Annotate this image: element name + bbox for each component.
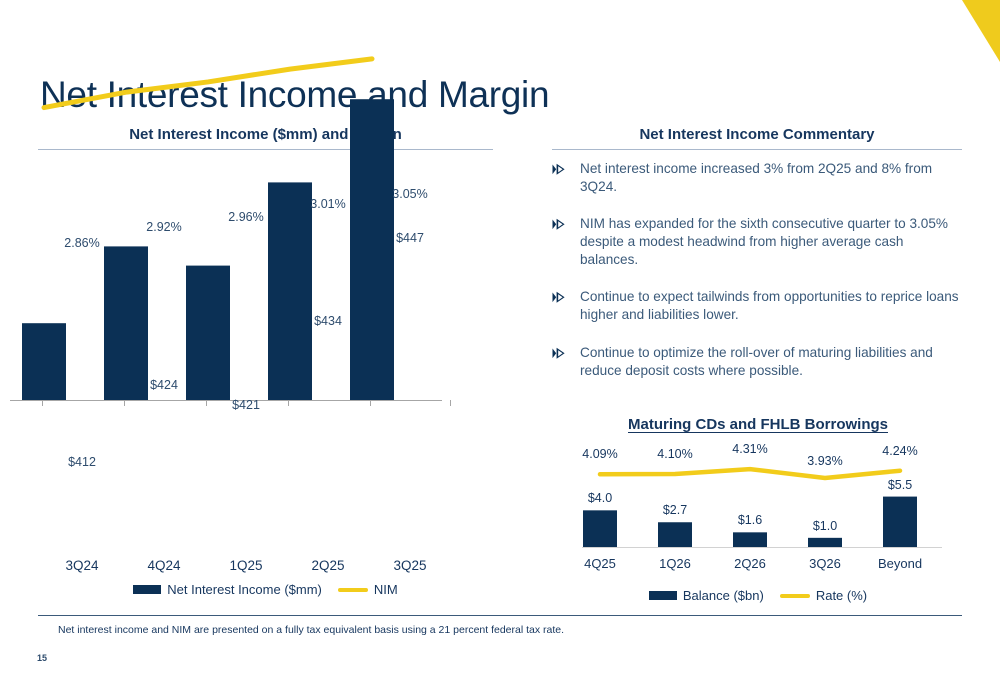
category-label: 2Q25 bbox=[293, 558, 363, 573]
axis-tick bbox=[450, 400, 451, 406]
right-panel-title: Net Interest Income Commentary bbox=[552, 126, 962, 149]
bullet-icon bbox=[552, 160, 568, 196]
footnote-text: Net interest income and NIM are presente… bbox=[58, 624, 564, 636]
nim-value-label: 3.05% bbox=[375, 187, 445, 201]
chart1-legend-item-line: NIM bbox=[338, 582, 398, 597]
category-label: 4Q25 bbox=[565, 556, 635, 571]
axis-tick bbox=[42, 400, 43, 406]
right-panel-divider bbox=[552, 149, 962, 150]
bar-value-label: $4.0 bbox=[565, 491, 635, 505]
right-panel-header-group: Net Interest Income Commentary bbox=[552, 126, 962, 150]
bar-value-label: $1.0 bbox=[790, 519, 860, 533]
chart2-legend: Balance ($bn) Rate (%) bbox=[552, 588, 964, 603]
corner-accent-triangle bbox=[962, 0, 1000, 62]
nim-value-label: 2.86% bbox=[47, 236, 117, 250]
double-chevron-icon bbox=[552, 218, 566, 231]
nim-value-label: 3.01% bbox=[293, 197, 363, 211]
category-label: 4Q24 bbox=[129, 558, 199, 573]
category-label: 1Q25 bbox=[211, 558, 281, 573]
rate-value-label: 4.09% bbox=[565, 447, 635, 461]
nim-line bbox=[44, 59, 372, 108]
bar-swatch-icon bbox=[649, 591, 677, 600]
footer-divider bbox=[38, 615, 962, 616]
page-number: 15 bbox=[37, 653, 47, 663]
double-chevron-icon bbox=[552, 163, 566, 176]
line-swatch-icon bbox=[780, 594, 810, 598]
bar bbox=[350, 99, 394, 400]
chart1-legend-label-bar: Net Interest Income ($mm) bbox=[167, 582, 322, 597]
commentary-bullet-text: Continue to optimize the roll-over of ma… bbox=[580, 344, 964, 380]
nim-value-label: 2.92% bbox=[129, 220, 199, 234]
bar bbox=[104, 246, 148, 400]
double-chevron-icon bbox=[552, 347, 566, 360]
commentary-bullet-text: Continue to expect tailwinds from opport… bbox=[580, 288, 964, 324]
rate-line bbox=[600, 469, 900, 478]
category-label: 3Q25 bbox=[375, 558, 445, 573]
commentary-bullet: NIM has expanded for the sixth consecuti… bbox=[552, 215, 964, 269]
commentary-bullet: Net interest income increased 3% from 2Q… bbox=[552, 160, 964, 196]
chart2-legend-label-line: Rate (%) bbox=[816, 588, 867, 603]
bar bbox=[733, 532, 767, 547]
bar-value-label: $1.6 bbox=[715, 513, 785, 527]
chart1-legend: Net Interest Income ($mm) NIM bbox=[38, 582, 493, 597]
category-label: 1Q26 bbox=[640, 556, 710, 571]
commentary-bullet: Continue to optimize the roll-over of ma… bbox=[552, 344, 964, 380]
bar-value-label: $447 bbox=[375, 231, 445, 245]
category-label: 2Q26 bbox=[715, 556, 785, 571]
rate-value-label: 4.31% bbox=[715, 442, 785, 456]
chart1-legend-label-line: NIM bbox=[374, 582, 398, 597]
bar bbox=[883, 497, 917, 547]
category-label: 3Q26 bbox=[790, 556, 860, 571]
bar-swatch-icon bbox=[133, 585, 161, 594]
category-label: Beyond bbox=[865, 556, 935, 571]
nim-value-label: 2.96% bbox=[211, 210, 281, 224]
bullet-icon bbox=[552, 344, 568, 380]
axis-tick bbox=[124, 400, 125, 406]
category-label: 3Q24 bbox=[47, 558, 117, 573]
rate-value-label: 4.24% bbox=[865, 444, 935, 458]
bar-value-label: $5.5 bbox=[865, 478, 935, 492]
bullet-icon bbox=[552, 288, 568, 324]
line-swatch-icon bbox=[338, 588, 368, 592]
commentary-bullet: Continue to expect tailwinds from opport… bbox=[552, 288, 964, 324]
axis-tick bbox=[288, 400, 289, 406]
slide-canvas: Net Interest Income and Margin Net Inter… bbox=[0, 0, 1000, 685]
bar bbox=[22, 323, 66, 400]
chart2-title: Maturing CDs and FHLB Borrowings bbox=[552, 416, 964, 433]
commentary-bullet-text: NIM has expanded for the sixth consecuti… bbox=[580, 215, 964, 269]
chart2-x-axis bbox=[582, 547, 942, 548]
commentary-bullet-text: Net interest income increased 3% from 2Q… bbox=[580, 160, 964, 196]
chart2-legend-item-line: Rate (%) bbox=[780, 588, 867, 603]
commentary-bullet-list: Net interest income increased 3% from 2Q… bbox=[552, 160, 964, 399]
bar bbox=[808, 538, 842, 547]
bar bbox=[658, 522, 692, 547]
rate-value-label: 3.93% bbox=[790, 454, 860, 468]
bar-value-label: $421 bbox=[211, 398, 281, 412]
rate-value-label: 4.10% bbox=[640, 447, 710, 461]
axis-tick bbox=[370, 400, 371, 406]
bar-value-label: $424 bbox=[129, 378, 199, 392]
bar-value-label: $2.7 bbox=[640, 503, 710, 517]
bar bbox=[583, 510, 617, 547]
double-chevron-icon bbox=[552, 291, 566, 304]
bar-value-label: $434 bbox=[293, 314, 363, 328]
bar-value-label: $412 bbox=[47, 455, 117, 469]
chart1-legend-item-bar: Net Interest Income ($mm) bbox=[133, 582, 322, 597]
chart2-legend-item-bar: Balance ($bn) bbox=[649, 588, 764, 603]
axis-tick bbox=[206, 400, 207, 406]
chart2-legend-label-bar: Balance ($bn) bbox=[683, 588, 764, 603]
bullet-icon bbox=[552, 215, 568, 269]
